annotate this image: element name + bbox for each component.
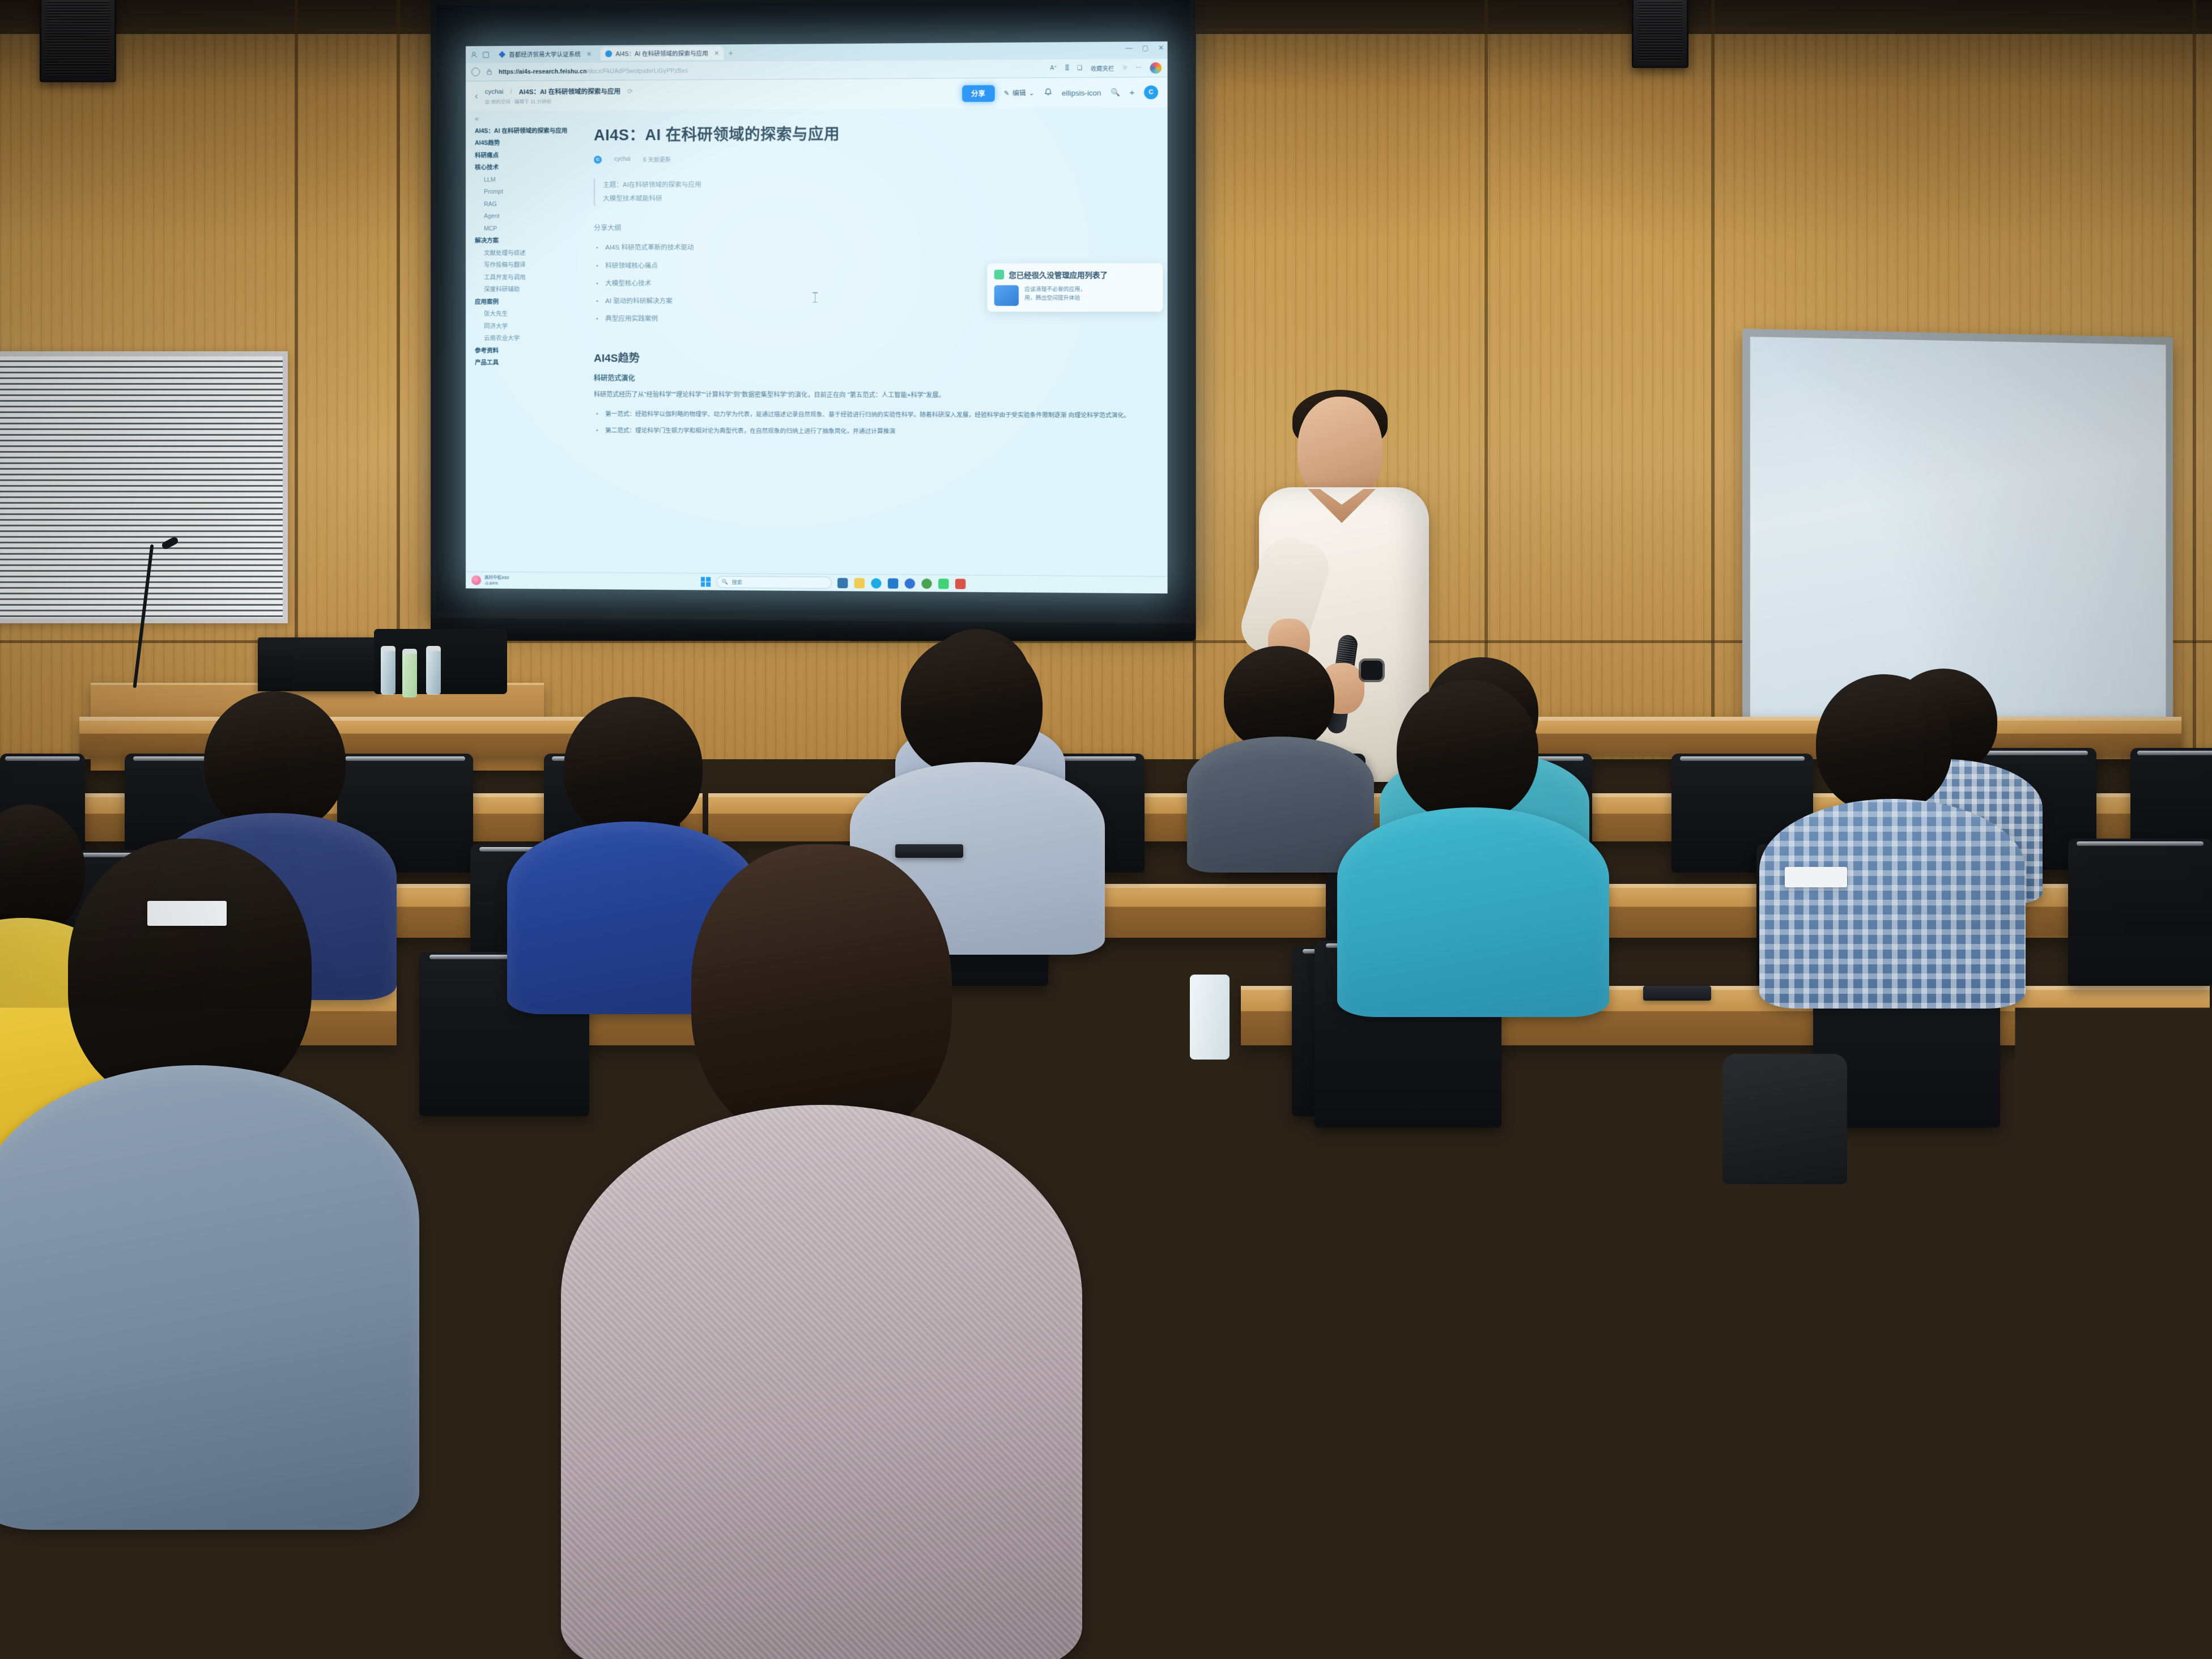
wps-icon[interactable] bbox=[955, 578, 965, 589]
outline-item-14[interactable]: 应用案例 bbox=[475, 296, 577, 308]
search-icon: 🔍 bbox=[722, 579, 728, 585]
audience-torso bbox=[1932, 1065, 2212, 1659]
taskbar-center: 🔍 搜索 bbox=[701, 576, 965, 590]
chair bbox=[1388, 1235, 1728, 1659]
outline-item-1[interactable]: AI4S趋势 bbox=[475, 137, 577, 149]
edit-label: 编辑 bbox=[1013, 88, 1026, 97]
lecture-room: 首都经济贸易大学认证系统 ✕ AI4S：AI 在科研领域的探索与应用 ✕ + —… bbox=[0, 0, 2212, 1659]
url-host: https://ai4s-research.feishu.cn bbox=[499, 68, 587, 75]
wall-seam bbox=[1484, 0, 1488, 759]
section-subheading: 科研范式演化 bbox=[594, 373, 1144, 384]
share-bullet-0: AI4S 科研范式革新的技术驱动 bbox=[594, 239, 1144, 257]
outline-item-10[interactable]: 文献处理与综述 bbox=[475, 247, 577, 260]
audience-head bbox=[691, 844, 952, 1145]
audience-torso bbox=[1759, 799, 2026, 1009]
paper-cup bbox=[1190, 975, 1230, 1060]
back-icon[interactable]: ‹ bbox=[475, 91, 478, 102]
taskbar-apps bbox=[837, 577, 965, 589]
document-thumbnail-icon bbox=[994, 285, 1019, 306]
browser-tab-0[interactable]: 首都经济贸易大学认证系统 ✕ bbox=[494, 47, 596, 61]
outline-item-3[interactable]: 核心技术 bbox=[475, 161, 577, 174]
audience-head bbox=[1224, 646, 1334, 751]
window-blinds bbox=[0, 351, 288, 623]
water-bottle bbox=[402, 649, 417, 697]
reload-icon[interactable] bbox=[471, 67, 480, 76]
smartphone-on-desk bbox=[895, 844, 963, 858]
tab-favicon bbox=[605, 50, 612, 57]
audience-torso bbox=[1337, 807, 1609, 1017]
browser-profile-avatar[interactable] bbox=[1150, 62, 1162, 74]
chevron-down-icon: ⌄ bbox=[1029, 89, 1035, 97]
outline-item-18[interactable]: 参考资料 bbox=[475, 344, 577, 357]
outline-item-4[interactable]: LLM bbox=[475, 173, 577, 186]
omnibar-actions: A⁺ ⫿⫿ ❑ 收藏夹栏 ☆ ⋯ bbox=[1050, 62, 1162, 74]
tab-overview-icon[interactable] bbox=[482, 51, 490, 58]
ceiling-speaker-right bbox=[1632, 0, 1688, 68]
collections-label[interactable]: 收藏夹栏 bbox=[1091, 63, 1114, 73]
close-button[interactable]: ✕ bbox=[1158, 44, 1164, 52]
share-bullet-4: 典型应用实践案例 bbox=[594, 310, 1144, 329]
outline-item-9[interactable]: 解决方案 bbox=[475, 235, 577, 247]
toast-title: 您已经很久没管理应用列表了 bbox=[1009, 269, 1107, 280]
wall-seam bbox=[2193, 0, 2196, 759]
document-meta: C cychai 6 天前更新 bbox=[594, 153, 1144, 164]
add-icon[interactable]: + bbox=[1129, 87, 1134, 97]
outline-item-12[interactable]: 工具开发与调用 bbox=[475, 271, 577, 284]
tab-title: AI4S：AI 在科研领域的探索与应用 bbox=[616, 49, 708, 58]
browser-more-icon[interactable]: ⋯ bbox=[1136, 65, 1142, 71]
document-updated: 6 天前更新 bbox=[643, 155, 671, 163]
new-tab-button[interactable]: + bbox=[729, 48, 733, 57]
chair-leg bbox=[1728, 1450, 1746, 1609]
windows-logo-icon[interactable] bbox=[701, 577, 711, 586]
document-header: ‹ cychai / AI4S：AI 在科研领域的探索与应用 ⟳ 由 他的空间 … bbox=[466, 77, 1168, 110]
url-path: /docx/FkUAdP5wotpsdxrLiGyPPzBxs bbox=[587, 67, 688, 75]
window-controls: — ▢ ✕ bbox=[1126, 44, 1164, 52]
author-avatar: C bbox=[594, 155, 602, 163]
audience-head bbox=[1397, 680, 1538, 822]
lock-icon bbox=[486, 68, 493, 75]
tab-close-icon[interactable]: ✕ bbox=[586, 50, 592, 58]
document-title: AI4S：AI 在科研领域的探索与应用 bbox=[594, 120, 1144, 145]
audience-member bbox=[1790, 674, 1977, 941]
edge-icon[interactable] bbox=[871, 578, 881, 588]
collections-icon[interactable]: ❑ bbox=[1077, 65, 1082, 71]
section-heading-ai4s-trend: AI4S趋势 bbox=[594, 350, 1144, 367]
toast-header: 您已经很久没管理应用列表了 bbox=[994, 269, 1156, 280]
wechat-icon[interactable] bbox=[938, 578, 948, 589]
profile-icon[interactable] bbox=[470, 51, 478, 58]
water-bottle bbox=[381, 646, 395, 695]
chair-leg bbox=[1350, 1428, 1366, 1603]
audience-head bbox=[901, 635, 1043, 776]
outline-item-17[interactable]: 云南农业大学 bbox=[475, 333, 577, 345]
chrome-icon[interactable] bbox=[921, 578, 931, 589]
read-aloud-icon[interactable]: A⁺ bbox=[1050, 65, 1057, 71]
audience-torso bbox=[0, 1065, 419, 1530]
tab-close-icon[interactable]: ✕ bbox=[714, 49, 719, 57]
stock-widget[interactable]: 高时中权A50 -0.84% bbox=[471, 575, 509, 586]
tab-favicon bbox=[499, 51, 505, 58]
ceiling-speaker-left bbox=[40, 0, 116, 82]
toast-line-1: 应该清理不必要的应用， bbox=[1024, 285, 1086, 293]
search-doc-icon[interactable]: 🔍 bbox=[1111, 88, 1120, 97]
chair-leg bbox=[1313, 1320, 1334, 1450]
browser-tab-1[interactable]: AI4S：AI 在科研领域的探索与应用 ✕ bbox=[601, 46, 724, 61]
mail-icon bbox=[994, 270, 1004, 279]
file-explorer-icon[interactable] bbox=[837, 577, 848, 588]
bell-icon[interactable] bbox=[1044, 88, 1052, 98]
podium-laptop bbox=[258, 637, 380, 691]
excel-icon[interactable] bbox=[888, 578, 898, 588]
wristwatch bbox=[1361, 661, 1382, 680]
breadcrumb-separator: / bbox=[510, 88, 512, 95]
toast-body: 应该清理不必要的应用， 用，腾出空间提升体验 bbox=[994, 285, 1156, 306]
share-button[interactable]: 分享 bbox=[962, 85, 995, 102]
outline-item-19[interactable]: 产品工具 bbox=[475, 357, 577, 369]
office-icon[interactable] bbox=[904, 578, 914, 588]
chair bbox=[2068, 839, 2212, 986]
audience-torso bbox=[561, 1105, 1082, 1659]
document-actions: 分享 ✎ 编辑 ⌄ ellipsis-icon 🔍 + C bbox=[962, 84, 1158, 101]
document-callout: 主题：AI在科研领域的探索与应用 大模型技术赋能科研 bbox=[594, 177, 1144, 206]
paper-on-desk bbox=[1785, 867, 1847, 887]
toast-line-2: 用，腾出空间提升体验 bbox=[1024, 294, 1086, 303]
search-placeholder: 搜索 bbox=[732, 578, 742, 586]
water-bottle bbox=[426, 646, 441, 695]
backpack bbox=[1722, 1054, 1847, 1184]
breadcrumb-owner[interactable]: cychai bbox=[485, 88, 504, 95]
breadcrumb-sub: 由 他的空间 · 编辑于 11 分钟前 bbox=[485, 97, 633, 105]
document-more-icon[interactable]: ellipsis-icon bbox=[1062, 88, 1101, 97]
folder-icon[interactable] bbox=[854, 578, 864, 588]
outline-item-0[interactable]: AI4S：AI 在科研领域的探索与应用 bbox=[475, 125, 577, 137]
audience-member-foreground bbox=[1932, 1065, 2212, 1659]
minimize-button[interactable]: — bbox=[1126, 44, 1133, 52]
paper-on-desk bbox=[147, 901, 227, 926]
projection-screen: 首都经济贸易大学认证系统 ✕ AI4S：AI 在科研领域的探索与应用 ✕ + —… bbox=[431, 0, 1196, 624]
split-screen-icon[interactable]: ⫿⫿ bbox=[1065, 65, 1069, 71]
notification-toast[interactable]: 您已经很久没管理应用列表了 应该清理不必要的应用， 用，腾出空间提升体验 bbox=[987, 263, 1163, 312]
document-body: « AI4S：AI 在科研领域的探索与应用 AI4S趋势 科研痛点 核心技术 L… bbox=[466, 107, 1168, 576]
pencil-icon: ✎ bbox=[1004, 89, 1010, 97]
section-paragraph: 科研范式经历了从"经验科学""理论科学""计算科学"到"数据密集型科学"的演化，… bbox=[594, 390, 1144, 402]
sync-icon: ⟳ bbox=[627, 87, 633, 95]
stock-name: 高时中权A50 bbox=[484, 575, 509, 581]
callout-line-2: 大模型技术赋能科研 bbox=[603, 190, 1144, 206]
outline-item-8[interactable]: MCP bbox=[475, 222, 577, 235]
audience-member bbox=[1371, 680, 1564, 946]
audience-member-foreground bbox=[629, 844, 1003, 1659]
audience-member-foreground bbox=[34, 839, 351, 1518]
projected-desktop: 首都经济贸易大学认证系统 ✕ AI4S：AI 在科研领域的探索与应用 ✕ + —… bbox=[466, 41, 1168, 593]
favorite-star-icon[interactable]: ☆ bbox=[1122, 65, 1128, 71]
callout-line-1: 主题：AI在科研领域的探索与应用 bbox=[603, 177, 1144, 192]
audience-head bbox=[1816, 674, 1952, 813]
section-bullet-0: 第一范式：经验科学以伽利略的物理学、动力学为代表，是通过描述记录自然现象、基于经… bbox=[594, 409, 1144, 421]
maximize-button[interactable]: ▢ bbox=[1142, 44, 1149, 52]
outline-item-16[interactable]: 同济大学 bbox=[475, 320, 577, 333]
outline-item-13[interactable]: 深度科研辅助 bbox=[475, 283, 577, 296]
tab-title: 首都经济贸易大学认证系统 bbox=[509, 50, 581, 59]
user-avatar[interactable]: C bbox=[1144, 86, 1158, 100]
breadcrumb-title[interactable]: AI4S：AI 在科研领域的探索与应用 bbox=[519, 87, 620, 96]
text-caret-icon bbox=[815, 292, 815, 303]
outline-item-15[interactable]: 张大先生 bbox=[475, 308, 577, 320]
audience-member bbox=[1218, 646, 1337, 799]
edit-mode-dropdown[interactable]: ✎ 编辑 ⌄ bbox=[1004, 88, 1035, 98]
audience-head bbox=[564, 697, 703, 839]
document-author: cychai bbox=[614, 156, 631, 163]
document-content: AI4S：AI 在科研领域的探索与应用 C cychai 6 天前更新 主题：A… bbox=[577, 107, 1168, 576]
share-outline-label: 分享大纲 bbox=[594, 222, 1144, 232]
address-bar[interactable]: https://ai4s-research.feishu.cn/docx/FkU… bbox=[499, 65, 1044, 75]
presenter-head bbox=[1298, 397, 1382, 501]
audience-head bbox=[204, 691, 346, 833]
document-outline: « AI4S：AI 在科研领域的探索与应用 AI4S趋势 科研痛点 核心技术 L… bbox=[466, 110, 577, 572]
stock-icon bbox=[471, 576, 481, 585]
section-bullet-1: 第二范式：理论科学门生顿力学和相对论为典型代表，在自然现象的归纳上进行了抽象简化… bbox=[594, 425, 1144, 437]
outline-item-11[interactable]: 写作投稿与翻译 bbox=[475, 259, 577, 271]
smartphone-on-desk bbox=[1643, 986, 1711, 1001]
outline-item-5[interactable]: Prompt bbox=[475, 186, 577, 198]
outline-item-7[interactable]: Agent bbox=[475, 210, 577, 223]
outline-item-6[interactable]: RAG bbox=[475, 198, 577, 210]
collapse-outline-icon[interactable]: « bbox=[475, 114, 577, 123]
taskbar-search[interactable]: 🔍 搜索 bbox=[716, 576, 831, 589]
breadcrumb: cychai / AI4S：AI 在科研领域的探索与应用 ⟳ 由 他的空间 · … bbox=[485, 86, 633, 105]
wall-seam bbox=[1711, 0, 1715, 759]
outline-item-2[interactable]: 科研痛点 bbox=[475, 149, 577, 161]
stock-change: -0.84% bbox=[484, 580, 509, 586]
